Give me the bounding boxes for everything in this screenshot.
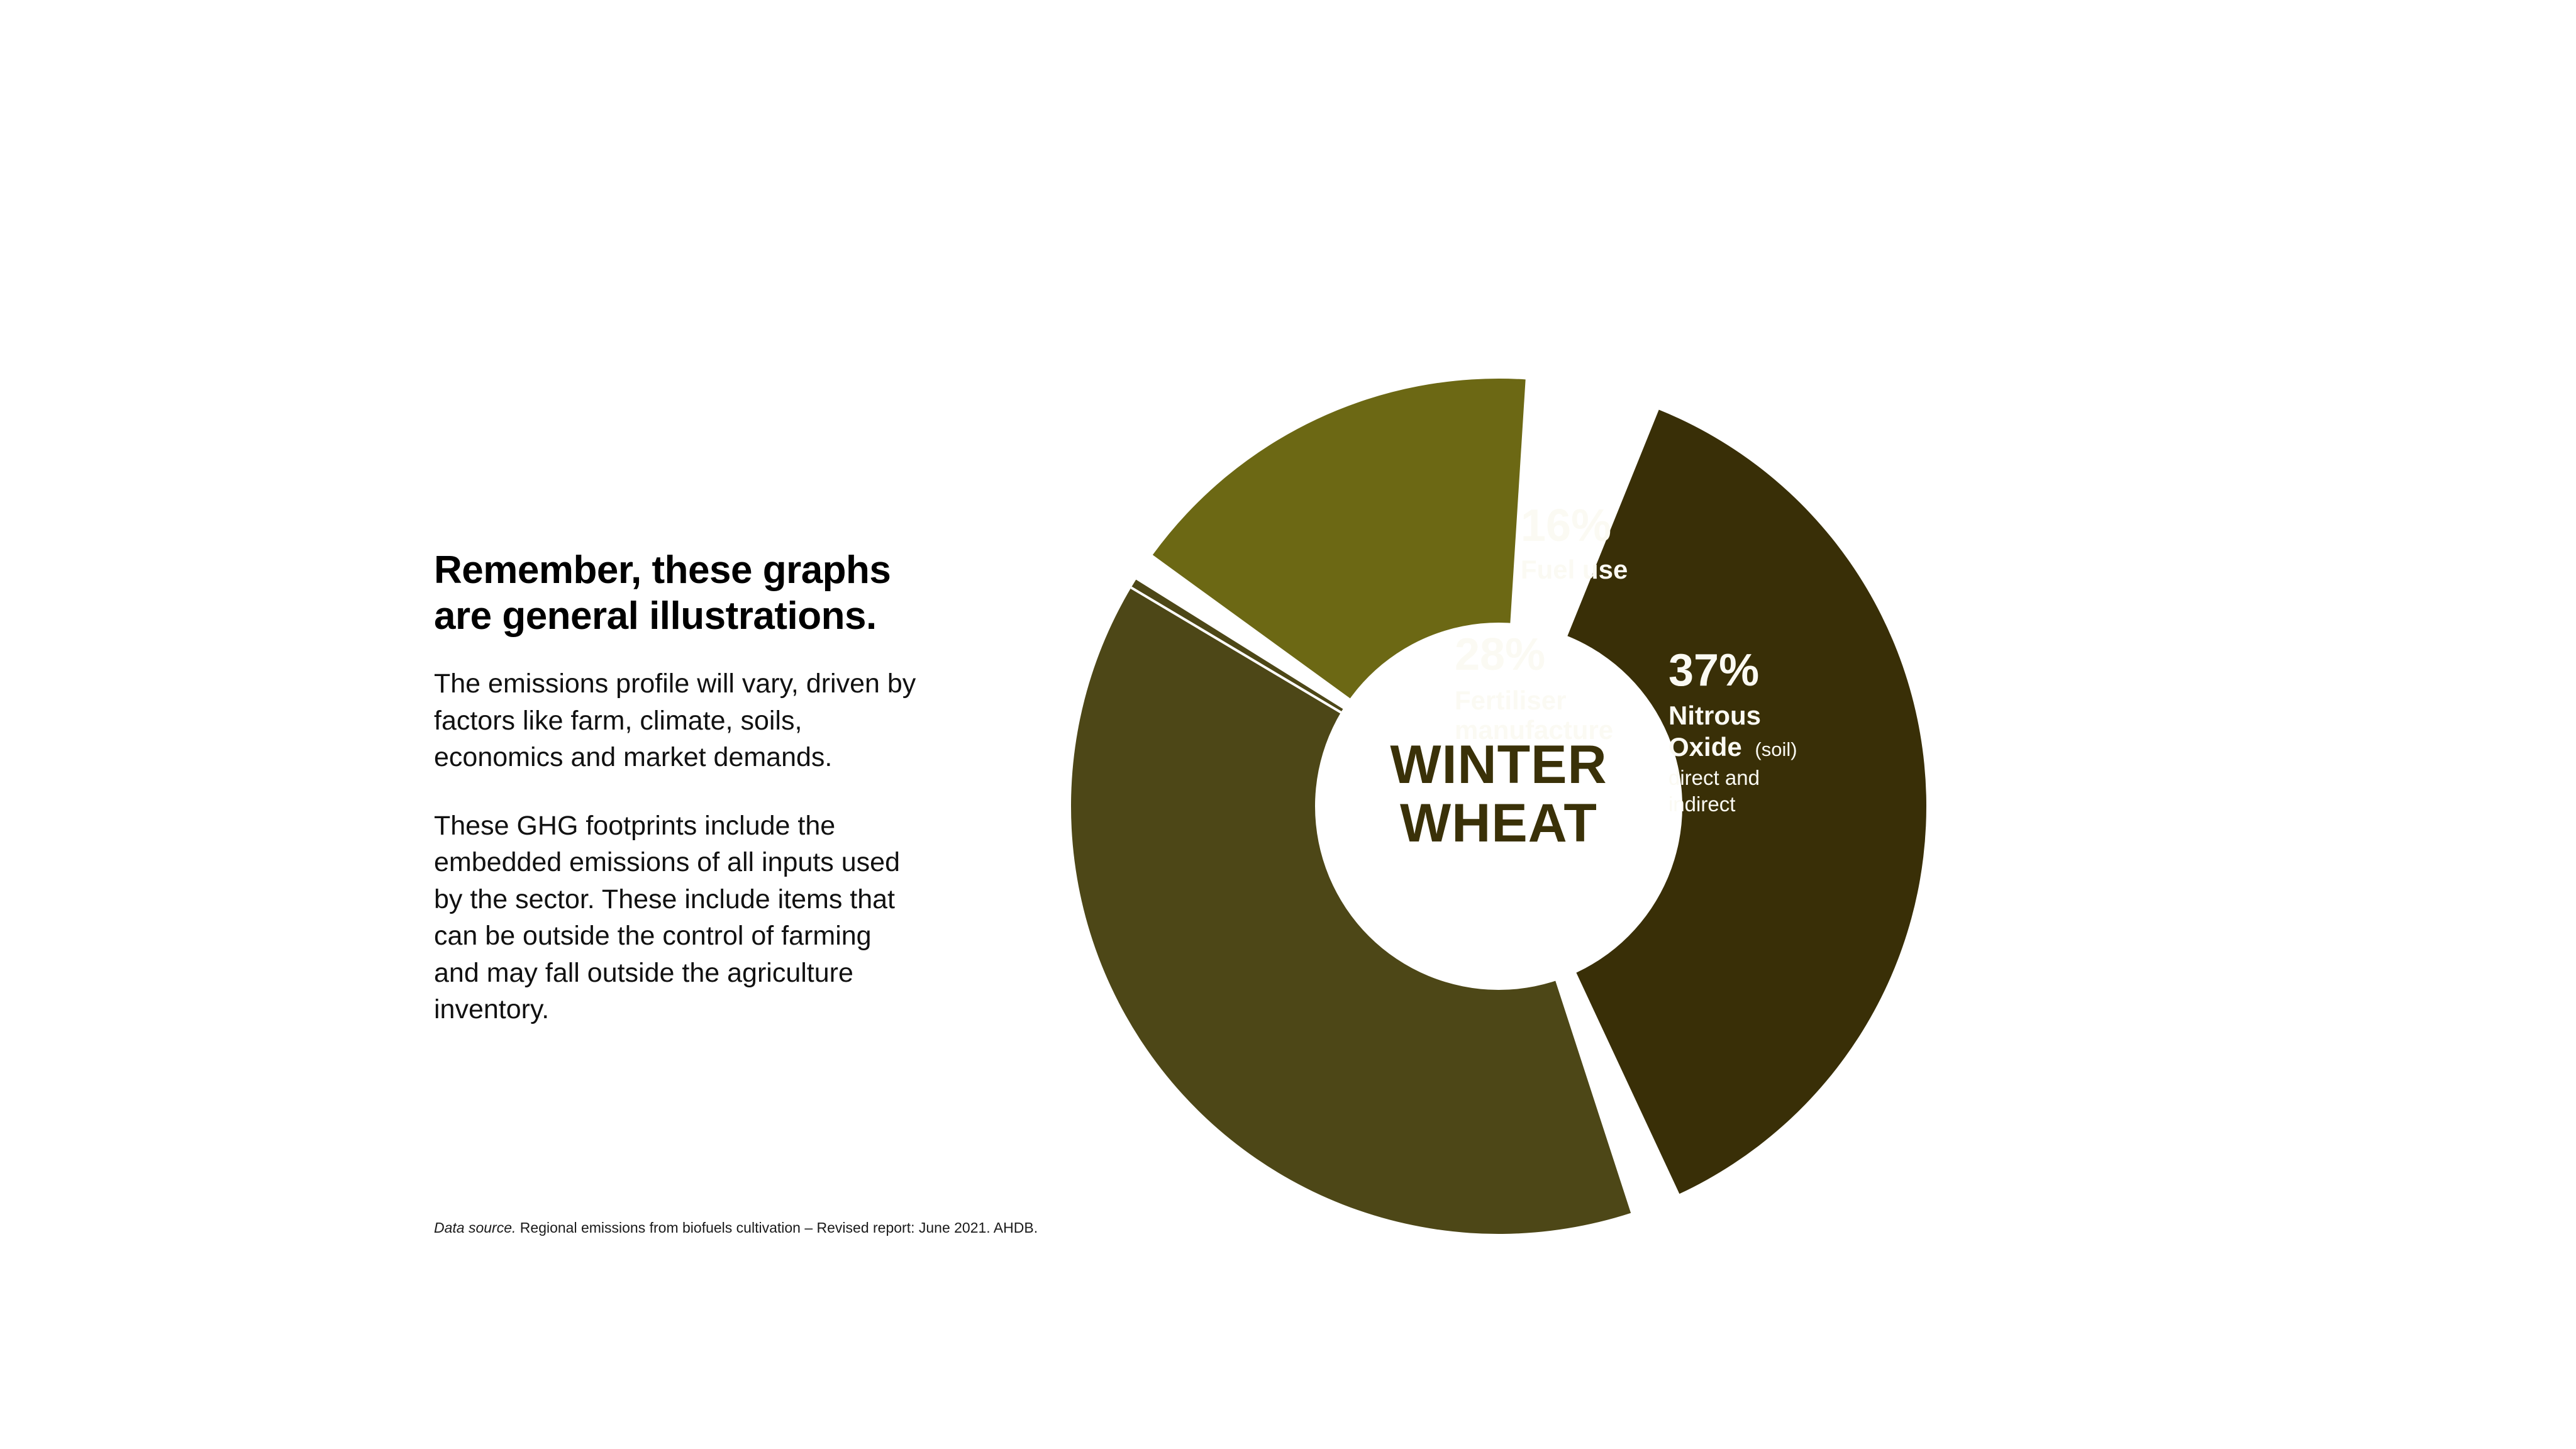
body-paragraph-2: These GHG footprints include the embedde… <box>434 808 975 1028</box>
data-source-label: Data source. <box>434 1219 516 1236</box>
nitrous-oxide-label-line-1: Nitrous <box>1668 701 1761 730</box>
nitrous-oxide-paren: (soil) <box>1755 738 1797 760</box>
nitrous-oxide-name-2: Oxide <box>1668 732 1742 762</box>
fertiliser-label-line-1: Fertiliser <box>1455 686 1566 715</box>
nitrous-oxide-sub-line-1: direct and <box>1668 766 1760 789</box>
data-source-text: Regional emissions from biofuels cultiva… <box>516 1219 1038 1236</box>
donut-chart: WINTER WHEAT 16% Fuel use 28% Fertiliser… <box>1006 327 1987 1283</box>
fuel-use-percent: 16% <box>1521 501 1611 551</box>
nitrous-oxide-sub-line-2: indirect <box>1668 792 1735 816</box>
body-paragraph-1: The emissions profile will vary, driven … <box>434 665 975 775</box>
page-title: Remember, these graphs are general illus… <box>434 547 975 639</box>
fuel-use-label: Fuel use <box>1521 555 1628 584</box>
text-panel: Remember, these graphs are general illus… <box>434 547 975 1028</box>
nitrous-oxide-percent: 37% <box>1668 645 1759 696</box>
fertiliser-percent: 28% <box>1455 630 1545 680</box>
fertiliser-label-line-2: manufacture <box>1455 715 1613 745</box>
infographic-canvas: Remember, these graphs are general illus… <box>0 0 2576 1449</box>
center-title-line-2: WHEAT <box>1400 793 1597 853</box>
